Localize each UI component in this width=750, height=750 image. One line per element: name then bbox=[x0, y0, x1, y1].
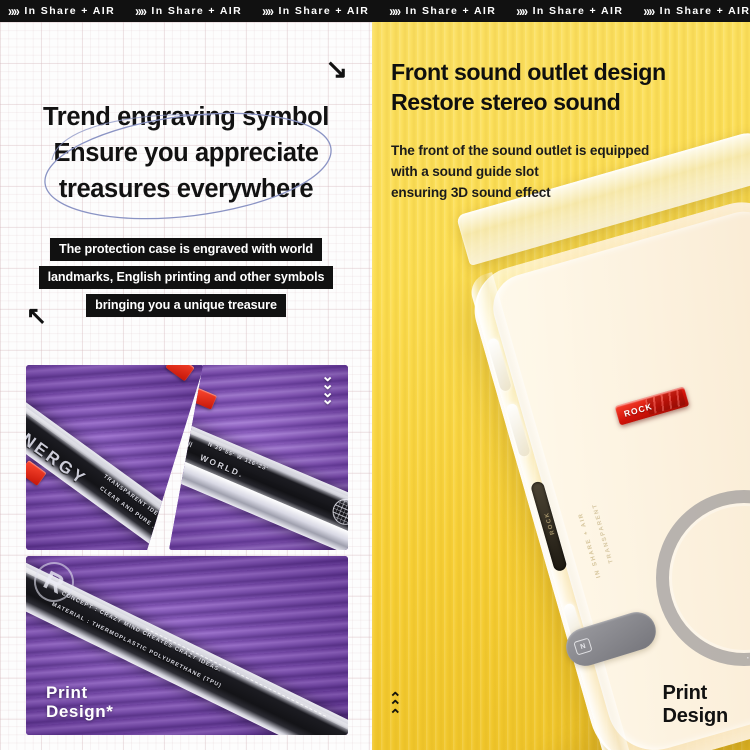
right-panel: ROCK ROCK IN SHARE + AIR TRANSPARENT #DE… bbox=[372, 22, 750, 750]
marquee-item: »»In Share + AIR bbox=[639, 4, 750, 18]
subcopy-line: The protection case is engraved with wor… bbox=[0, 238, 372, 261]
phone-case-render: ROCK ROCK IN SHARE + AIR TRANSPARENT #DE… bbox=[420, 190, 750, 750]
marquee-label: In Share + AIR bbox=[151, 5, 258, 17]
left-headline-block: Trend engraving symbol Ensure you apprec… bbox=[0, 100, 372, 208]
print-design-label: Print Design* bbox=[46, 683, 114, 721]
product-marketing-banner: »»In Share + AIR»»In Share + AIR»»In Sha… bbox=[0, 0, 750, 750]
product-photo-world: WORLD. N 39°55' W 116°23' |||||| ⌄⌄⌄⌄ bbox=[169, 365, 348, 550]
photo-collage-top-row: ENERGY ROCK TRANSPARENT IDEAS CLEAR AND … bbox=[26, 365, 348, 550]
body-line-1: The front of the sound outlet is equippe… bbox=[391, 140, 731, 161]
chevron-up-glyph: ⌃ bbox=[389, 712, 402, 720]
engrave-bars: |||||| bbox=[180, 438, 193, 448]
marquee-label: In Share + AIR bbox=[278, 5, 385, 17]
marquee-label: In Share + AIR bbox=[24, 5, 131, 17]
left-subcopy-block: The protection case is engraved with wor… bbox=[0, 238, 372, 322]
body-line-3: ensuring 3D sound effect bbox=[391, 182, 731, 203]
page-title: Trend engraving symbol Ensure you apprec… bbox=[0, 100, 372, 208]
marquee-item: »»In Share + AIR bbox=[4, 4, 131, 18]
headline-line-3: treasures everywhere bbox=[0, 172, 372, 208]
chevron-right-icon: »» bbox=[4, 2, 24, 20]
print-label-line-2: Design* bbox=[46, 702, 114, 721]
chevron-right-icon: »» bbox=[512, 2, 532, 20]
chevron-right-icon: »» bbox=[131, 2, 151, 20]
marquee-item: »»In Share + AIR bbox=[512, 4, 639, 18]
body-line-2: with a sound guide slot bbox=[391, 161, 731, 182]
print-design-label: Print Design bbox=[663, 682, 728, 728]
subcopy-text: bringing you a unique treasure bbox=[86, 294, 286, 317]
product-photo-print-design: CONCEPT : CRAZY MIND CREATES CRAZY IDEAS… bbox=[26, 556, 348, 735]
magsafe-ring-label: #DEEPLY · DESIGN · #DEEPLY · DESIGN · bbox=[745, 499, 750, 663]
nfc-icon: N bbox=[573, 637, 592, 655]
right-panel-heading: Front sound outlet design Restore stereo… bbox=[391, 58, 737, 118]
left-panel: ↘ ↖ Trend engraving symbol Ensure you ap… bbox=[0, 22, 372, 750]
subcopy-text: landmarks, English printing and other sy… bbox=[39, 266, 334, 289]
print-label-line-2: Design bbox=[663, 705, 728, 728]
subcopy-text: The protection case is engraved with wor… bbox=[50, 238, 322, 261]
marquee-label: In Share + AIR bbox=[406, 5, 513, 17]
headline-line-1: Trend engraving symbol bbox=[0, 100, 372, 136]
heading-line-2: Restore stereo sound bbox=[391, 88, 737, 118]
heading-line-1: Front sound outlet design bbox=[391, 58, 737, 88]
print-label-line-1: Print bbox=[663, 682, 728, 705]
print-label-line-1: Print bbox=[46, 683, 114, 702]
chevron-right-icon: »» bbox=[258, 2, 278, 20]
chevron-down-glyph: ⌄ bbox=[321, 396, 334, 404]
headline-line-2: Ensure you appreciate bbox=[0, 136, 372, 172]
marquee-item: »»In Share + AIR bbox=[258, 4, 385, 18]
case-body bbox=[464, 192, 750, 750]
chevron-down-icon: ⌄⌄⌄⌄ bbox=[321, 373, 334, 404]
svg-text:#DEEPLY · DESIGN · #DEEPLY · D: #DEEPLY · DESIGN · #DEEPLY · DESIGN · bbox=[745, 499, 750, 663]
chevron-right-icon: »» bbox=[385, 2, 405, 20]
marquee-label: In Share + AIR bbox=[660, 5, 750, 17]
marquee-banner: »»In Share + AIR»»In Share + AIR»»In Sha… bbox=[0, 0, 750, 22]
chevron-right-icon: »» bbox=[639, 2, 659, 20]
right-panel-body: The front of the sound outlet is equippe… bbox=[391, 140, 731, 203]
subcopy-line: bringing you a unique treasure bbox=[0, 294, 372, 317]
chevron-up-icon: ⌃⌃⌃ bbox=[389, 695, 402, 720]
marquee-item: »»In Share + AIR bbox=[131, 4, 258, 18]
arrow-down-right-icon: ↘ bbox=[325, 56, 348, 83]
marquee-label: In Share + AIR bbox=[533, 5, 640, 17]
subcopy-line: landmarks, English printing and other sy… bbox=[0, 266, 372, 289]
marquee-track: »»In Share + AIR»»In Share + AIR»»In Sha… bbox=[0, 4, 750, 18]
marquee-item: »»In Share + AIR bbox=[385, 4, 512, 18]
